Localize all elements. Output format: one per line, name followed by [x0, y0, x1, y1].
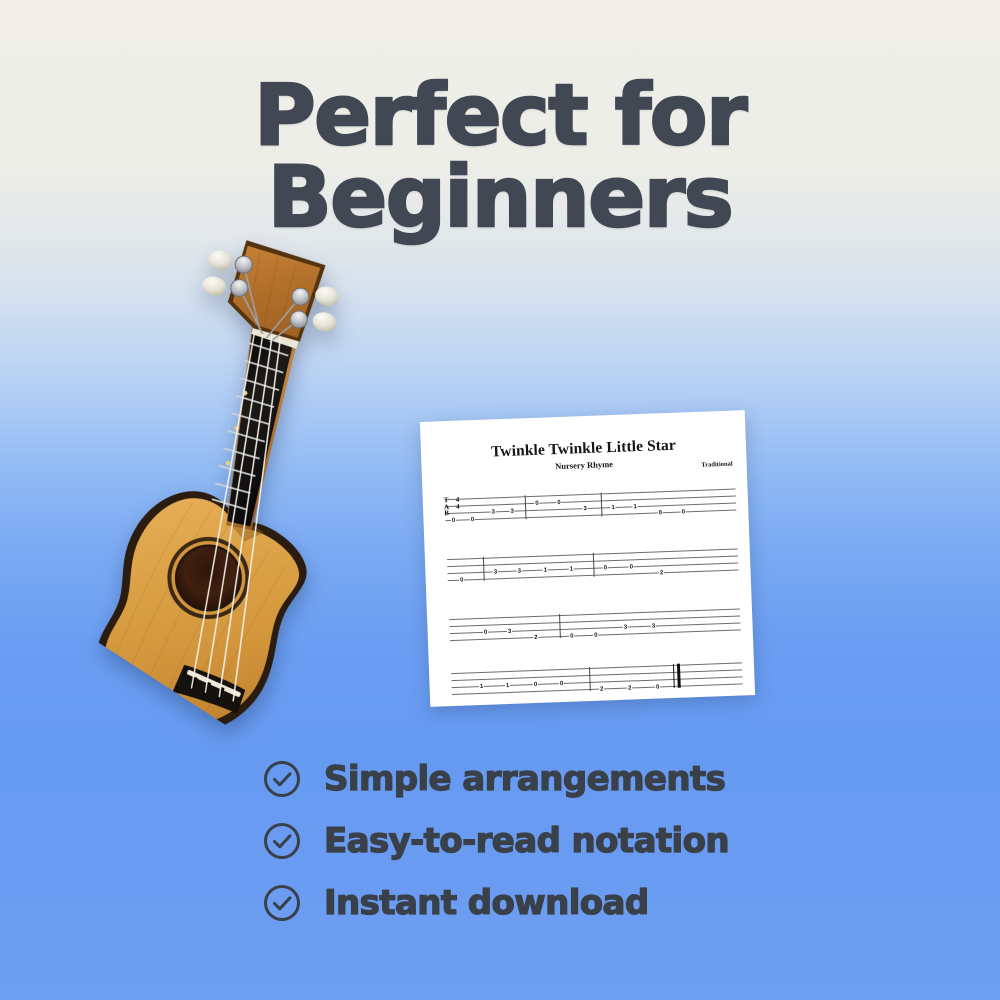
tab-fret-number: 0 [681, 509, 687, 515]
tab-fret-number: 2 [599, 686, 605, 692]
tab-fret-number: 0 [483, 629, 489, 635]
tab-staff: 03311002 [447, 548, 739, 585]
tab-fret-number: 2 [659, 570, 665, 576]
tab-fret-number: 0 [470, 517, 476, 523]
page-title: Perfect for Beginners [0, 74, 1000, 239]
check-circle-icon [262, 883, 302, 923]
time-signature: 44 [456, 497, 460, 510]
staff-lines [451, 662, 743, 699]
tab-fret-number: 3 [490, 509, 496, 515]
uke-body [48, 466, 339, 769]
tab-fret-number: 0 [459, 577, 465, 583]
tab-staff: 0320033 [449, 608, 741, 645]
sheet-paper: Twinkle Twinkle Little Star Nursery Rhym… [420, 410, 755, 707]
tab-fret-number: 0 [451, 517, 457, 523]
check-circle-icon [262, 759, 302, 799]
tab-clef-icon: TAB [444, 497, 449, 517]
tab-fret-number: 3 [509, 508, 515, 514]
tab-fret-number: 1 [479, 683, 485, 689]
list-item-label: Instant download [324, 883, 649, 923]
tab-fret-number: 1 [569, 566, 575, 572]
tab-fret-number: 1 [543, 567, 549, 573]
tab-fret-number: 0 [629, 564, 635, 570]
list-item: Easy-to-read notation [262, 810, 782, 872]
tab-fret-number: 3 [493, 569, 499, 575]
tab-fret-number: 1 [610, 504, 616, 510]
tab-fret-number: 1 [632, 504, 638, 510]
tab-fret-number: 1 [505, 682, 511, 688]
list-item: Simple arrangements [262, 748, 782, 810]
tab-fret-number: 0 [593, 632, 599, 638]
tab-fret-number: 0 [534, 500, 540, 506]
song-composer: Traditional [701, 461, 733, 469]
sheet-music-preview: Twinkle Twinkle Little Star Nursery Rhym… [425, 408, 755, 708]
feature-checklist: Simple arrangements Easy-to-read notatio… [262, 748, 782, 934]
tab-fret-number: 3 [507, 628, 513, 634]
list-item-label: Easy-to-read notation [324, 821, 729, 861]
tab-fret-number: 3 [651, 623, 657, 629]
tab-fret-number: 2 [627, 685, 633, 691]
tab-fret-number: 0 [658, 510, 664, 516]
tab-fret-number: 0 [655, 684, 661, 690]
list-item: Instant download [262, 872, 782, 934]
tab-staff: 1100220 [451, 662, 743, 699]
check-circle-icon [262, 821, 302, 861]
tab-fret-number: 0 [603, 565, 609, 571]
tab-fret-number: 0 [569, 633, 575, 639]
tab-fret-number: 2 [533, 634, 539, 640]
tab-fret-number: 3 [582, 505, 588, 511]
staff-lines [445, 489, 737, 526]
tab-fret-number: 3 [623, 624, 629, 630]
tab-fret-number: 0 [559, 680, 565, 686]
staff-lines [449, 608, 741, 645]
tab-staff: TAB4400330031100 [445, 489, 737, 526]
tab-staff-group: TAB44003300311000331100203200331100220 [420, 410, 745, 422]
tab-fret-number: 0 [533, 681, 539, 687]
list-item-label: Simple arrangements [324, 759, 725, 799]
promo-graphic: Perfect for Beginners [0, 0, 1000, 1000]
tab-fret-number: 3 [517, 568, 523, 574]
tab-fret-number: 0 [556, 499, 562, 505]
